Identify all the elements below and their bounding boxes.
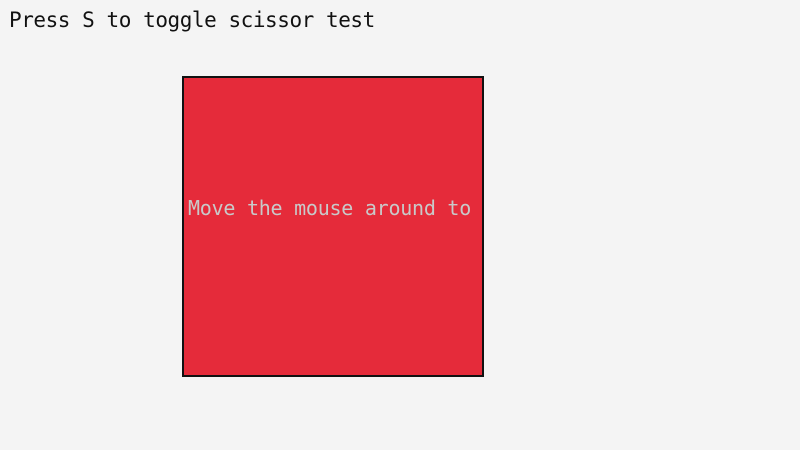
demo-canvas: Press S to toggle scissor test Move the …	[0, 0, 800, 450]
scissor-clipped-content: Move the mouse around to r	[184, 78, 484, 375]
scissor-message-text: Move the mouse around to r	[188, 195, 484, 221]
scissor-toggle-hint: Press S to toggle scissor test	[9, 7, 789, 33]
scissor-region-box[interactable]: Move the mouse around to r	[182, 76, 484, 377]
